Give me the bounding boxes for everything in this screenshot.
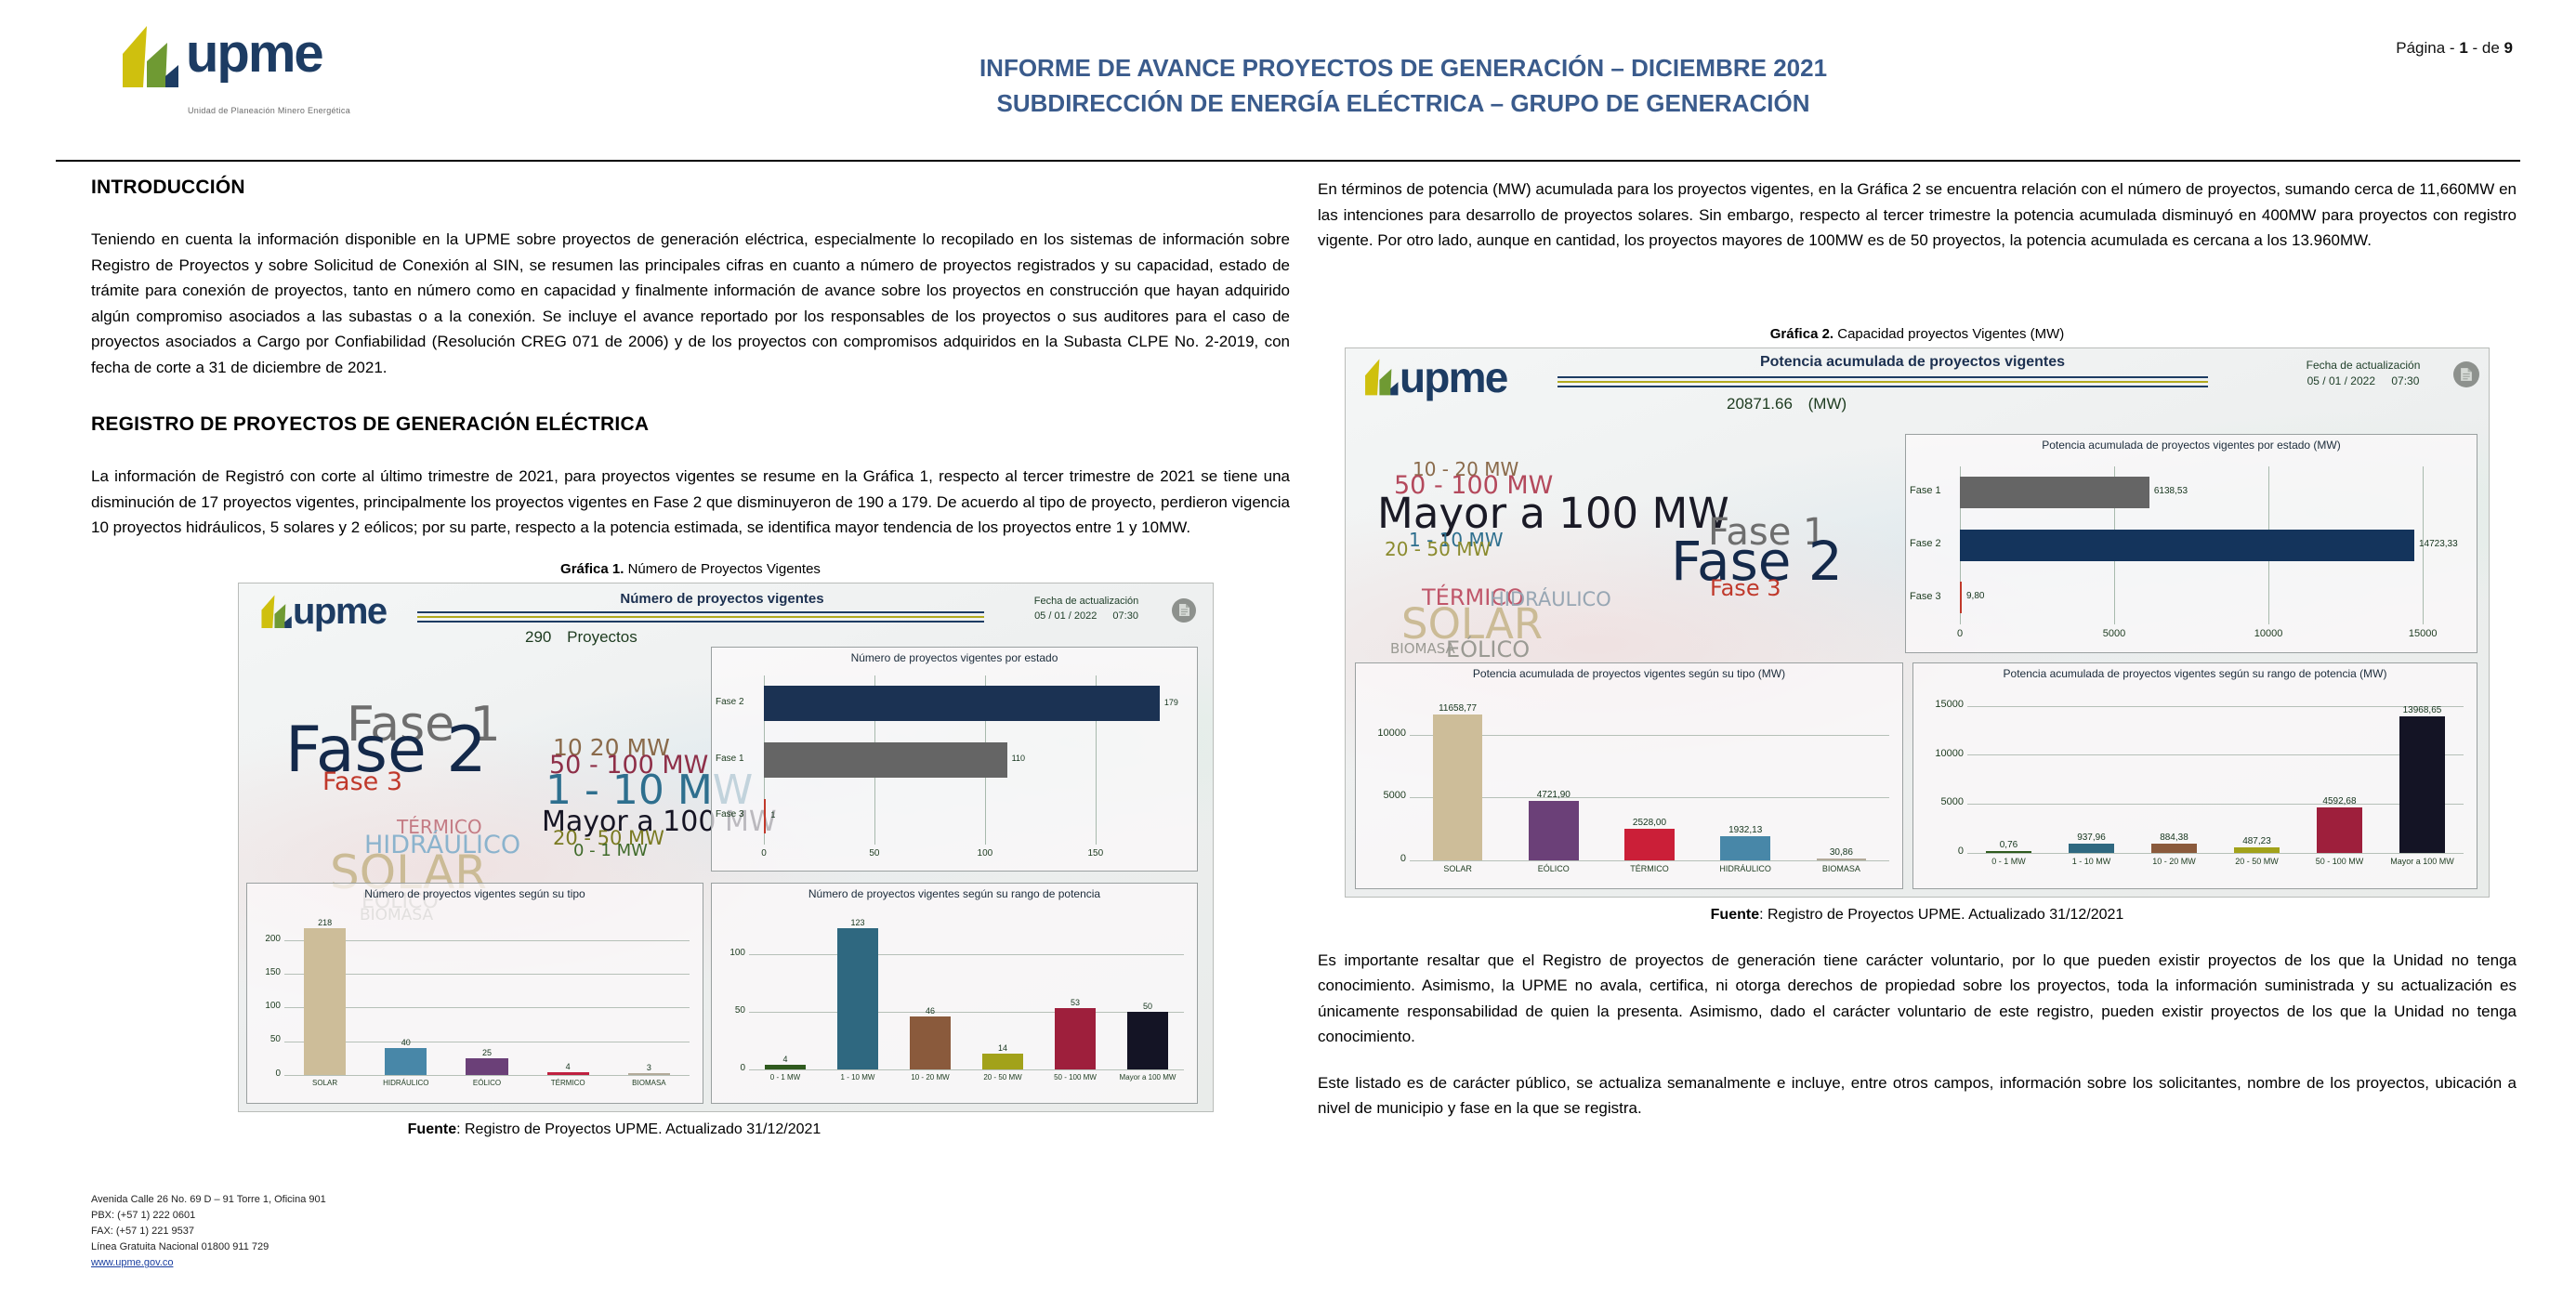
chart-title-rango-2: Potencia acumulada de proyectos vigentes… <box>1913 667 2477 680</box>
page-current: 1 <box>2459 39 2467 57</box>
axis-tick-label: 0 <box>249 1068 281 1079</box>
category-label: Mayor a 100 MW <box>2386 857 2458 866</box>
category-label: Fase 3 <box>716 809 760 819</box>
category-label: Fase 2 <box>1910 538 1956 549</box>
chart-title-tipo-1: Número de proyectos vigentes según su ti… <box>247 887 703 900</box>
bar <box>1960 582 1962 613</box>
left-column: INTRODUCCIÓN Teniendo en cuenta la infor… <box>91 177 1290 1138</box>
category-label: Mayor a 100 MW <box>1116 1073 1178 1082</box>
axis-tick-label: 100 <box>968 848 1002 859</box>
axis-tick-label: 0 <box>1943 628 1977 639</box>
page-title: INFORME DE AVANCE PROYECTOS DE GENERACIÓ… <box>706 51 2100 121</box>
axis-tick-label: 150 <box>1079 848 1112 859</box>
page-footer: Avenida Calle 26 No. 69 D – 91 Torre 1, … <box>91 1192 326 1271</box>
axis-tick-label: 50 <box>249 1034 281 1044</box>
page-prefix: Página - <box>2396 39 2459 57</box>
cloud-word: Fase 3 <box>1710 577 1781 599</box>
chart-panel-estado-1[interactable]: Número de proyectos vigentes por estado … <box>711 647 1198 872</box>
bar <box>304 928 346 1075</box>
upme-logo-mark-icon <box>112 22 184 104</box>
bar-value-label: 11658,77 <box>1413 703 1502 714</box>
gridline <box>284 1075 690 1076</box>
figure2-source: Fuente: Registro de Proyectos UPME. Actu… <box>1318 907 2517 924</box>
bar <box>1720 836 1770 860</box>
upme-logo: upme Unidad de Planeación Minero Energét… <box>112 17 418 119</box>
bar <box>1986 851 2032 853</box>
document-glyph-icon <box>1178 603 1190 617</box>
bar-value-label: 218 <box>287 918 361 927</box>
bar <box>466 1058 507 1075</box>
page-number-indicator: Página - 1 - de 9 <box>2396 39 2513 58</box>
category-label: Fase 1 <box>1910 485 1956 496</box>
bar-value-label: 9,80 <box>1966 591 1984 601</box>
dashboard2-fecha-values: 05 / 01 / 2022 07:30 <box>2275 374 2451 389</box>
bar <box>910 1016 951 1069</box>
paragraph-registro: La información de Registró con corte al … <box>91 464 1290 541</box>
dashboard1-rules <box>417 611 984 625</box>
figure2-source-label: Fuente <box>1711 907 1759 923</box>
axis-tick-label: 0 <box>1915 846 1964 857</box>
page-title-line1: INFORME DE AVANCE PROYECTOS DE GENERACIÓ… <box>979 54 1827 82</box>
bar-value-label: 4 <box>531 1062 605 1071</box>
dashboard2-content: upme Potencia acumulada de proyectos vig… <box>1346 348 2489 897</box>
bar-value-label: 40 <box>369 1038 443 1047</box>
bar <box>765 1065 806 1069</box>
bar <box>764 799 766 834</box>
axis-tick-label: 150 <box>249 967 281 977</box>
axis-tick-label: 0 <box>1358 853 1406 864</box>
bar-value-label: 50 <box>1113 1002 1183 1011</box>
bar-value-label: 3 <box>611 1063 686 1072</box>
dashboard2-title: Potencia acumulada de proyectos vigentes <box>1615 354 2210 371</box>
figure1-caption: Gráfica 1. Número de Proyectos Vigentes <box>91 561 1290 577</box>
category-label: EÓLICO <box>1514 864 1593 873</box>
category-label: 50 - 100 MW <box>1044 1073 1106 1082</box>
bar-value-label: 4592,68 <box>2300 796 2379 806</box>
page-middle: - de <box>2468 39 2504 57</box>
axis-tick-label: 50 <box>714 1005 745 1016</box>
bar-value-label: 123 <box>823 918 893 927</box>
category-label: 0 - 1 MW <box>1973 857 2044 866</box>
bar <box>2317 807 2363 852</box>
page-title-line2: SUBDIRECCIÓN DE ENERGÍA ELÉCTRICA – GRUP… <box>706 86 2100 122</box>
chart-panel-tipo-2[interactable]: Potencia acumulada de proyectos vigentes… <box>1355 662 1903 889</box>
dashboard1-logo-mark-icon <box>256 593 295 637</box>
gridline <box>749 954 1184 955</box>
dashboard1-fecha: Fecha de actualización 05 / 01 / 2022 07… <box>1003 595 1170 624</box>
gridline <box>749 1012 1184 1013</box>
dashboard1-fecha-label: Fecha de actualización <box>1003 595 1170 610</box>
category-label: 20 - 50 MW <box>2221 857 2293 866</box>
dashboard1-wordmark: upme <box>293 591 387 633</box>
axis-tick-label: 100 <box>714 948 745 958</box>
bar-value-label: 0,76 <box>1969 840 2048 850</box>
dashboard1-fecha-value: 05 / 01 / 2022 <box>1034 610 1097 622</box>
bar-value-label: 179 <box>1164 698 1178 707</box>
bar-value-label: 110 <box>1012 754 1025 763</box>
category-label: EÓLICO <box>453 1079 520 1087</box>
bar-value-label: 4 <box>751 1055 821 1064</box>
figure1-caption-text: Número de Proyectos Vigentes <box>624 561 821 577</box>
footer-website-link[interactable]: www.upme.gov.co <box>91 1257 173 1268</box>
category-label: BIOMASA <box>616 1079 683 1087</box>
category-label: SOLAR <box>1418 864 1497 873</box>
section-title-introduccion: INTRODUCCIÓN <box>91 177 1290 199</box>
axis-tick-label: 5000 <box>1915 796 1964 807</box>
bar <box>2399 716 2446 853</box>
axis-tick-label: 50 <box>858 848 891 859</box>
dashboard1-fecha-hora: 07:30 <box>1112 610 1138 622</box>
bar-value-label: 46 <box>896 1006 966 1016</box>
grafica1-dashboard[interactable]: upme Número de proyectos vigentes 290 Pr… <box>238 583 1214 1112</box>
figure1-source-label: Fuente <box>408 1121 456 1137</box>
bar-value-label: 14 <box>968 1043 1038 1053</box>
gridline <box>1967 754 2464 755</box>
axis-tick-label: 10000 <box>1358 728 1406 739</box>
dashboard2-fecha-label: Fecha de actualización <box>2275 358 2451 374</box>
chart-title-estado-2: Potencia acumulada de proyectos vigentes… <box>1906 439 2477 452</box>
bar <box>2069 844 2115 853</box>
category-label: 20 - 50 MW <box>971 1073 1033 1082</box>
dashboard2-phase-cloud: Fase 1Fase 2Fase 3 <box>1364 404 1922 646</box>
category-label: 0 - 1 MW <box>754 1073 816 1082</box>
axis-tick-label: 0 <box>714 1063 745 1073</box>
bar-value-label: 1932,13 <box>1702 825 1790 835</box>
bar-value-label: 30,86 <box>1797 847 1886 858</box>
bar-value-label: 13968,65 <box>2383 705 2462 715</box>
figure1-source: Fuente: Registro de Proyectos UPME. Actu… <box>126 1121 1102 1138</box>
bar-value-label: 6138,53 <box>2154 486 2188 496</box>
category-label: HIDRÁULICO <box>373 1079 440 1087</box>
category-label: Fase 2 <box>716 697 760 707</box>
category-label: Fase 3 <box>1910 591 1956 602</box>
bar-value-label: 53 <box>1041 998 1111 1007</box>
axis-tick-label: 10000 <box>2252 628 2285 639</box>
dashboard1-title: Número de proyectos vigentes <box>462 591 982 607</box>
gridline <box>1410 860 1889 861</box>
bar <box>1960 477 2149 508</box>
figure1-caption-label: Gráfica 1. <box>560 561 624 577</box>
footer-address: Avenida Calle 26 No. 69 D – 91 Torre 1, … <box>91 1192 326 1208</box>
paragraph-listado: Este listado es de carácter público, se … <box>1318 1070 2517 1121</box>
axis-tick-label: 100 <box>249 1001 281 1011</box>
figure1-source-text: : Registro de Proyectos UPME. Actualizad… <box>456 1121 821 1137</box>
dashboard2-logo-mark-icon <box>1359 356 1401 406</box>
category-label: 1 - 10 MW <box>2056 857 2127 866</box>
upme-wordmark: upme <box>186 22 322 85</box>
footer-fax: FAX: (+57 1) 221 9537 <box>91 1224 326 1239</box>
bar <box>2151 844 2198 852</box>
footer-linea: Línea Gratuita Nacional 01800 911 729 <box>91 1239 326 1255</box>
category-label: 10 - 20 MW <box>2138 857 2210 866</box>
category-label: 10 - 20 MW <box>899 1073 961 1082</box>
bar <box>982 1054 1023 1069</box>
document-icon[interactable] <box>1172 598 1196 623</box>
figure2-caption: Gráfica 2. Capacidad proyectos Vigentes … <box>1318 326 2517 342</box>
category-label: 50 - 100 MW <box>2304 857 2375 866</box>
dashboard2-fecha-hora: 07:30 <box>2391 374 2419 387</box>
bar <box>628 1073 670 1075</box>
gridline <box>1967 804 2464 805</box>
category-label: SOLAR <box>292 1079 359 1087</box>
axis-tick-label: 5000 <box>1358 790 1406 801</box>
upme-tagline: Unidad de Planeación Minero Energética <box>188 106 350 115</box>
category-label: 1 - 10 MW <box>826 1073 888 1082</box>
bar-value-label: 25 <box>450 1048 524 1057</box>
chart-panel-tipo-1[interactable]: Número de proyectos vigentes según su ti… <box>246 883 703 1104</box>
category-label: TÉRMICO <box>534 1079 601 1087</box>
document-icon[interactable] <box>2453 361 2479 387</box>
bar <box>1055 1008 1096 1068</box>
bar <box>547 1072 589 1075</box>
dashboard1-fecha-values: 05 / 01 / 2022 07:30 <box>1003 610 1170 624</box>
document-glyph-icon <box>2460 367 2473 382</box>
chart-panel-rango-1[interactable]: Número de proyectos vigentes según su ra… <box>711 883 1198 1104</box>
paragraph-voluntario: Es importante resaltar que el Registro d… <box>1318 948 2517 1050</box>
axis-tick-label: 5000 <box>2097 628 2131 639</box>
bar-value-label: 1 <box>770 810 775 819</box>
bar <box>2234 847 2280 852</box>
dashboard2-fecha: Fecha de actualización 05 / 01 / 2022 07… <box>2275 358 2451 390</box>
dashboard1-content: upme Número de proyectos vigentes 290 Pr… <box>239 583 1213 1111</box>
bar-value-label: 884,38 <box>2135 832 2214 843</box>
chart-panel-estado-2[interactable]: Potencia acumulada de proyectos vigentes… <box>1905 434 2477 653</box>
bar <box>1127 1012 1168 1069</box>
gridline <box>749 1069 1184 1070</box>
page-header: upme Unidad de Planeación Minero Energét… <box>0 0 2576 163</box>
chart-panel-rango-2[interactable]: Potencia acumulada de proyectos vigentes… <box>1912 662 2477 889</box>
category-label: TÉRMICO <box>1610 864 1689 873</box>
dashboard2-rules <box>1557 376 2208 390</box>
bar-value-label: 2528,00 <box>1606 818 1694 828</box>
chart-title-tipo-2: Potencia acumulada de proyectos vigentes… <box>1356 667 1902 680</box>
chart-title-rango-1: Número de proyectos vigentes según su ra… <box>712 887 1197 900</box>
bar-value-label: 4721,90 <box>1509 790 1597 800</box>
dashboard2-wordmark: upme <box>1400 352 1506 402</box>
right-column: En términos de potencia (MW) acumulada p… <box>1318 177 2517 1142</box>
paragraph-introduccion: Teniendo en cuenta la información dispon… <box>91 227 1290 380</box>
figure2-caption-label: Gráfica 2. <box>1770 326 1833 342</box>
dashboard2-fecha-value: 05 / 01 / 2022 <box>2307 374 2375 387</box>
axis-tick-label: 200 <box>249 934 281 944</box>
bar-value-label: 487,23 <box>2217 836 2296 846</box>
bar <box>764 742 1007 778</box>
grafica2-dashboard[interactable]: upme Potencia acumulada de proyectos vig… <box>1345 347 2490 898</box>
figure2-source-text: : Registro de Proyectos UPME. Actualizad… <box>1759 907 2123 923</box>
chart-title-estado-1: Número de proyectos vigentes por estado <box>712 651 1197 664</box>
bar <box>385 1048 427 1075</box>
category-label: BIOMASA <box>1802 864 1881 873</box>
bar <box>1529 801 1579 859</box>
bar-value-label: 14723,33 <box>2419 539 2458 549</box>
figure2-caption-text: Capacidad proyectos Vigentes (MW) <box>1833 326 2064 342</box>
axis-tick-label: 15000 <box>2406 628 2439 639</box>
bar <box>837 928 878 1069</box>
cloud-word: 0 - 1 MW <box>573 843 648 859</box>
bar <box>1817 859 1867 860</box>
category-label: Fase 1 <box>716 754 760 764</box>
axis-tick-label: 15000 <box>1915 699 1964 710</box>
section-title-registro: REGISTRO DE PROYECTOS DE GENERACIÓN ELÉC… <box>91 413 1290 436</box>
dashboard1-type-cloud: TÉRMICOHIDRÁULICOSOLAREÓLICOBIOMASA <box>257 643 536 866</box>
bar <box>1624 829 1675 860</box>
axis-tick-label: 10000 <box>1915 748 1964 759</box>
bar <box>1960 530 2414 561</box>
bar-value-label: 937,96 <box>2052 832 2131 843</box>
bar <box>764 686 1160 721</box>
paragraph-potencia: En términos de potencia (MW) acumulada p… <box>1318 177 2517 254</box>
gridline <box>1967 853 2464 854</box>
bar <box>1433 714 1483 860</box>
footer-pbx: PBX: (+57 1) 222 0601 <box>91 1208 326 1224</box>
header-divider <box>56 160 2520 162</box>
page-total: 9 <box>2504 39 2513 57</box>
axis-tick-label: 0 <box>747 848 781 859</box>
category-label: HIDRÁULICO <box>1706 864 1785 873</box>
